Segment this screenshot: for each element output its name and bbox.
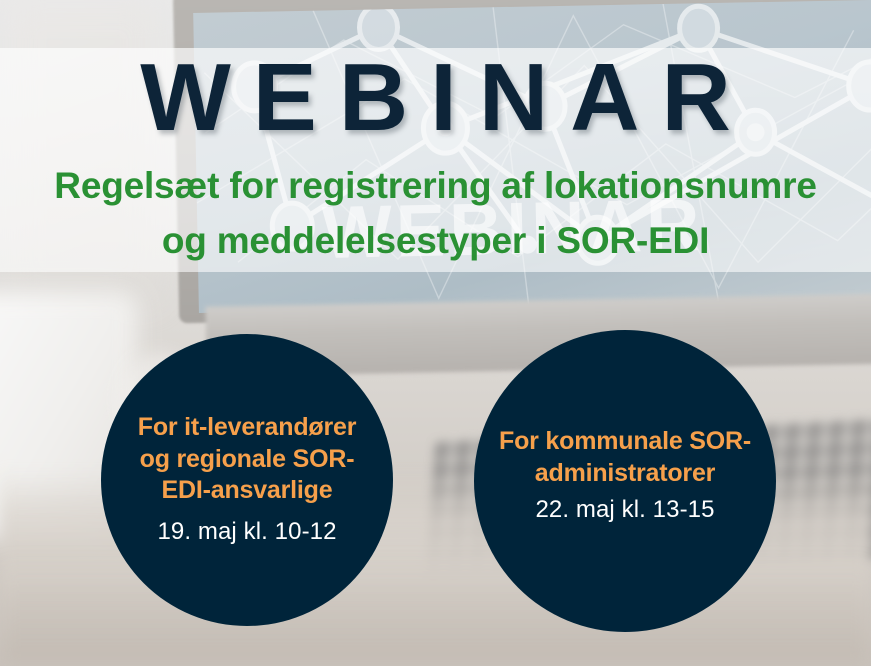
session-heading-line-2: og regionale SOR- — [138, 444, 356, 476]
session-heading: For kommunale SOR- administratorer — [479, 426, 771, 489]
session-circle-kommunale-administratorer: For kommunale SOR- administratorer 22. m… — [474, 330, 776, 632]
webinar-poster: WEBINAR WEBINAR Regelsæt for registrerin… — [0, 0, 871, 666]
session-circle-it-leverandorer: For it-leverandører og regionale SOR- ED… — [101, 334, 393, 626]
subtitle-line-1: Regelsæt for registrering af lokationsnu… — [0, 158, 871, 213]
session-heading-line-1: For it-leverandører — [138, 412, 356, 444]
session-heading-line-3: EDI-ansvarlige — [138, 475, 356, 507]
page-subtitle: Regelsæt for registrering af lokationsnu… — [0, 158, 871, 268]
session-heading-line-1: For kommunale SOR- — [499, 426, 751, 458]
session-date: 19. maj kl. 10-12 — [157, 518, 336, 546]
session-date: 22. maj kl. 13-15 — [535, 496, 714, 524]
session-heading-line-2: administratorer — [499, 458, 751, 490]
session-heading: For it-leverandører og regionale SOR- ED… — [118, 412, 376, 507]
page-title: WEBINAR — [0, 50, 871, 146]
subtitle-line-2: og meddelelsestyper i SOR-EDI — [0, 213, 871, 268]
